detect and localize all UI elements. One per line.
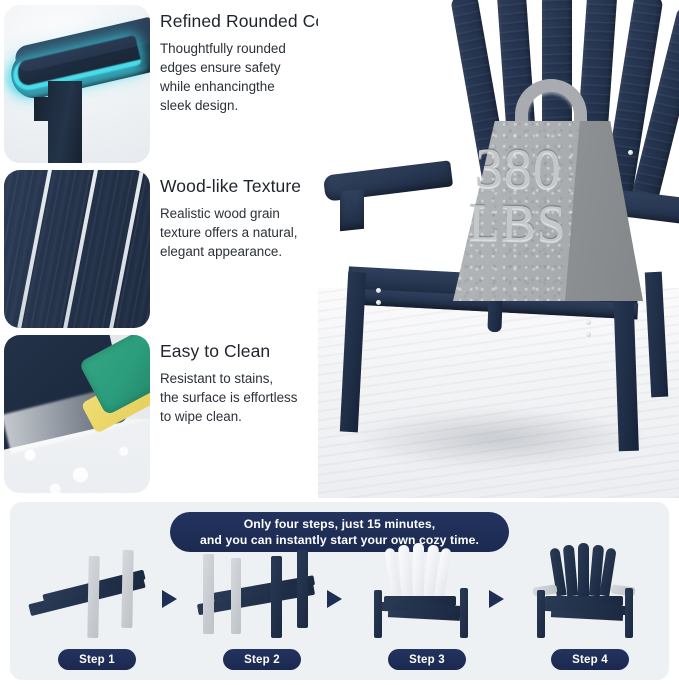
feature-description: Thoughtfully rounded edges ensure safety… xyxy=(160,39,340,115)
completed-chair-diagram xyxy=(515,546,665,646)
chevron-right-arrow-icon xyxy=(162,590,177,608)
step-badge: Step 4 xyxy=(551,649,629,670)
feature-item-rounded-corners: Refined Rounded Corners Thoughtfully rou… xyxy=(0,5,340,165)
weight-unit: LBS xyxy=(456,198,579,250)
chair-with-backrest-diagram xyxy=(352,546,502,646)
feature-title: Refined Rounded Corners xyxy=(160,11,340,33)
navy-adirondack-chair-photo: 380 LBS xyxy=(318,0,679,498)
feature-item-wood-texture: Wood-like Texture Realistic wood grain t… xyxy=(0,170,340,330)
product-infographic: Refined Rounded Corners Thoughtfully rou… xyxy=(0,0,679,685)
feature-description: Realistic wood grain texture offers a na… xyxy=(160,204,340,261)
feature-title: Easy to Clean xyxy=(160,341,340,363)
armrest-support-post xyxy=(48,81,82,163)
frame-with-four-legs-diagram xyxy=(187,546,337,646)
banner-line-1: Only four steps, just 15 minutes, xyxy=(244,516,436,532)
assembly-step-3: Step 3 xyxy=(352,546,502,680)
assembly-step-list: Step 1 Step 2 xyxy=(10,546,669,680)
feature-description: Resistant to stains, the surface is effo… xyxy=(160,369,340,426)
concrete-weight-block: 380 LBS xyxy=(453,85,643,300)
weight-number: 380 xyxy=(457,142,580,198)
assembly-step-4: Step 4 xyxy=(515,546,665,680)
step-badge: Step 3 xyxy=(388,649,466,670)
center-support-foot xyxy=(487,298,502,332)
assembly-step-1: Step 1 xyxy=(22,546,172,680)
chevron-right-arrow-icon xyxy=(489,590,504,608)
feature-title: Wood-like Texture xyxy=(160,176,340,198)
sponge-cleaning-photo xyxy=(4,335,150,493)
left-armrest-support xyxy=(340,189,364,232)
armrest-rounded-corner-photo xyxy=(4,5,150,163)
feature-list: Refined Rounded Corners Thoughtfully rou… xyxy=(0,0,340,498)
chevron-right-arrow-icon xyxy=(327,590,342,608)
weight-capacity-label: 380 LBS xyxy=(456,142,580,250)
seat-frame-with-two-legs-diagram xyxy=(22,546,172,646)
assembly-step-2: Step 2 xyxy=(187,546,337,680)
step-badge: Step 2 xyxy=(223,649,301,670)
navy-wood-grain-slats-photo xyxy=(4,170,150,328)
feature-item-easy-clean: Easy to Clean Resistant to stains, the s… xyxy=(0,335,340,495)
step-badge: Step 1 xyxy=(58,649,136,670)
assembly-steps-panel: Only four steps, just 15 minutes, and yo… xyxy=(10,502,669,680)
